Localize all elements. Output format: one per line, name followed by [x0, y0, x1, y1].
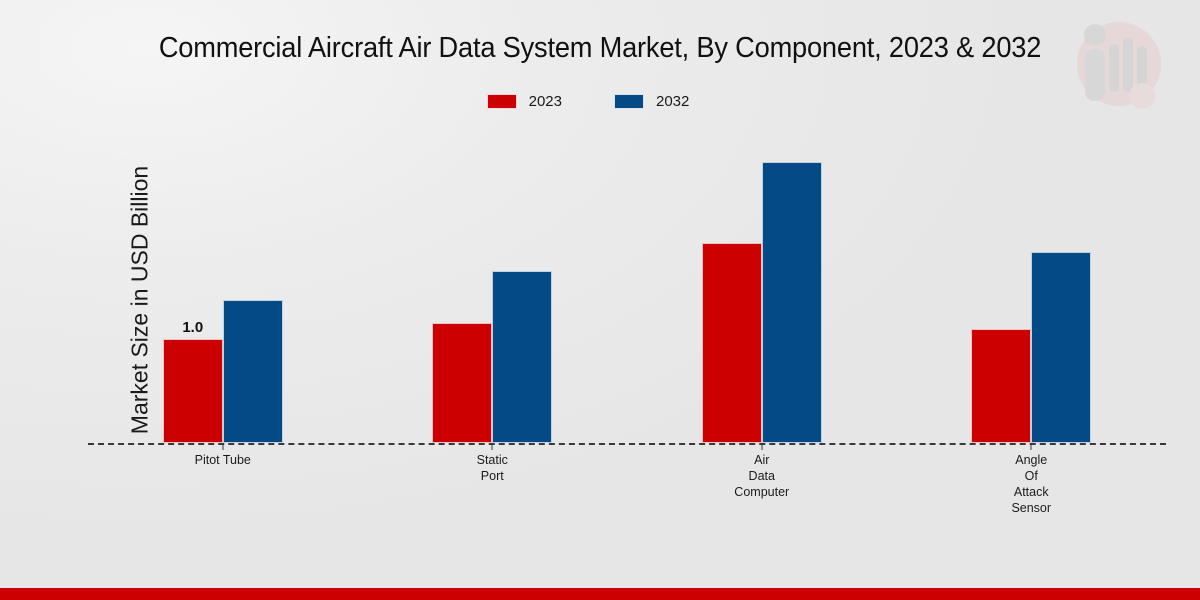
bar-pair [432, 130, 552, 443]
bar-rect[interactable] [492, 271, 552, 443]
x-axis-tick [222, 443, 223, 450]
bar-value-label: 1.0 [182, 319, 203, 336]
legend-swatch-2032 [614, 94, 644, 109]
legend-label-2032: 2032 [656, 93, 689, 110]
chart-legend: 2023 2032 [0, 93, 1200, 110]
legend-item-2023[interactable]: 2023 [487, 93, 562, 110]
bar-group: Angle Of Attack Sensor [897, 130, 1167, 443]
bar-rect[interactable] [223, 300, 283, 443]
x-axis-category-label: Pitot Tube [195, 452, 251, 468]
bar-pair [971, 130, 1091, 443]
x-axis-category-label: Angle Of Attack Sensor [1011, 452, 1051, 516]
x-axis-tick [761, 443, 762, 450]
x-axis-category-label: Static Port [477, 452, 508, 484]
footer-accent-bar [0, 588, 1200, 600]
bar-group: Static Port [358, 130, 628, 443]
bar-2032[interactable] [1031, 252, 1091, 443]
chart-figure: Commercial Aircraft Air Data System Mark… [0, 0, 1200, 600]
legend-label-2023: 2023 [529, 93, 562, 110]
plot-area: 1.0Pitot TubeStatic PortAir Data Compute… [88, 130, 1166, 443]
bar-2032[interactable] [223, 300, 283, 443]
bar-rect[interactable] [432, 323, 492, 443]
bar-group: Air Data Computer [627, 130, 897, 443]
bar-groups: 1.0Pitot TubeStatic PortAir Data Compute… [88, 130, 1166, 443]
bar-2023[interactable] [432, 323, 492, 443]
x-axis-category-label: Air Data Computer [734, 452, 789, 500]
bar-rect[interactable] [1031, 252, 1091, 443]
legend-swatch-2023 [487, 94, 517, 109]
bar-rect[interactable] [971, 329, 1031, 443]
bar-2023[interactable] [971, 329, 1031, 443]
legend-item-2032[interactable]: 2032 [614, 93, 689, 110]
bar-rect[interactable] [762, 162, 822, 443]
x-axis-tick [492, 443, 493, 450]
bar-2032[interactable] [762, 162, 822, 443]
bar-rect[interactable] [702, 243, 762, 443]
bar-rect[interactable] [163, 339, 223, 443]
x-axis-baseline [88, 443, 1166, 445]
x-axis-tick [1031, 443, 1032, 450]
bar-2023[interactable]: 1.0 [163, 339, 223, 443]
page-title: Commercial Aircraft Air Data System Mark… [27, 32, 1173, 65]
bar-group: 1.0Pitot Tube [88, 130, 358, 443]
bar-2023[interactable] [702, 243, 762, 443]
bar-pair: 1.0 [163, 130, 283, 443]
bar-pair [702, 130, 822, 443]
bar-2032[interactable] [492, 271, 552, 443]
